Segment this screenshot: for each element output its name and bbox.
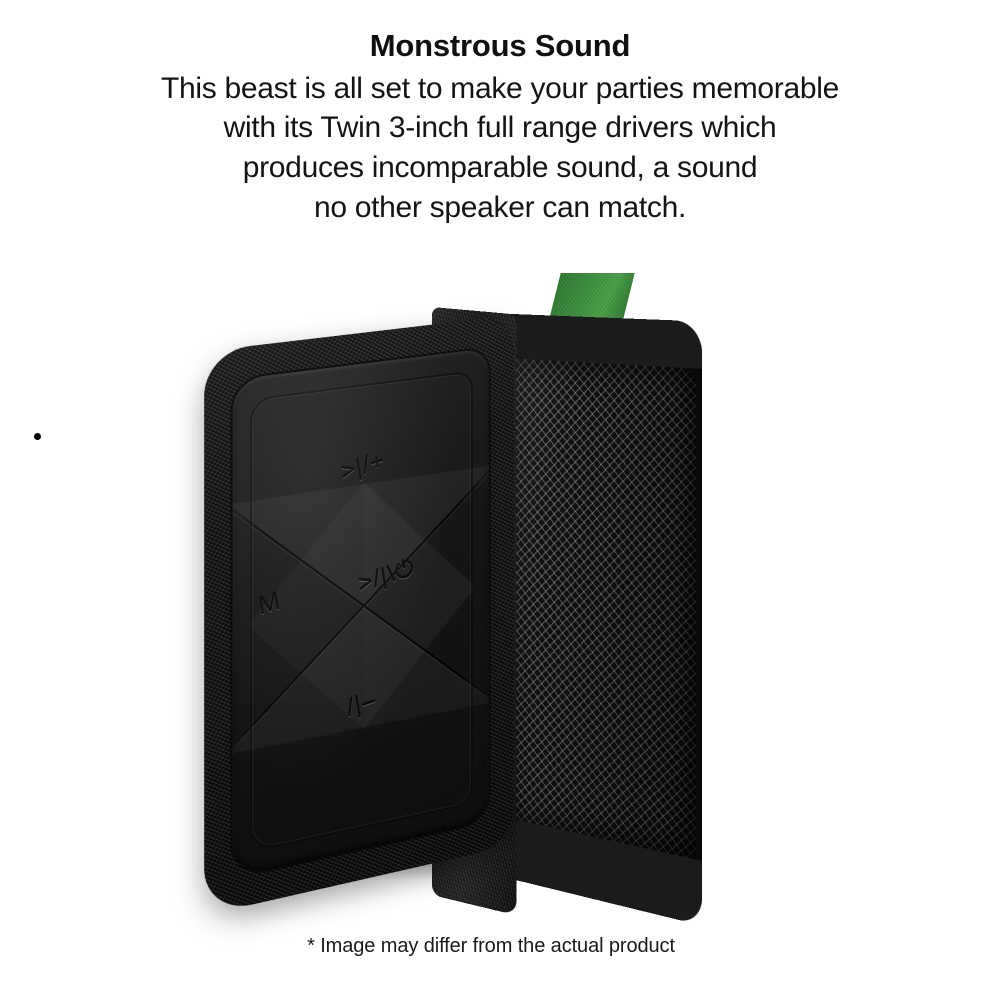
mode-button[interactable] xyxy=(248,482,364,752)
disclaimer-text: * Image may differ from the actual produ… xyxy=(0,935,1000,958)
microphone-pinhole-icon xyxy=(34,433,41,440)
description-line-4: no other speaker can match. xyxy=(0,188,1000,228)
previous-track-volume-down-icon: /|– xyxy=(345,687,377,720)
description-line-2: with its Twin 3-inch full range drivers … xyxy=(0,108,1000,148)
speaker-mesh xyxy=(496,358,695,860)
previous-track-volume-down-button[interactable] xyxy=(233,584,489,755)
key-divider-stroke xyxy=(233,473,488,746)
description-line-3: produces incomparable sound, a sound xyxy=(0,148,1000,188)
description-text: This beast is all set to make your parti… xyxy=(0,69,1000,229)
mode-icon: M xyxy=(257,589,283,620)
description-line-1: This beast is all set to make your parti… xyxy=(0,69,1000,109)
bluetooth-speaker: >|/+ >/|\⏻ /|– M xyxy=(0,255,1000,905)
play-pause-power-button[interactable] xyxy=(364,466,475,730)
play-pause-power-icon: >/|\⏻ xyxy=(357,555,417,596)
key-cluster-outline xyxy=(250,370,473,852)
speaker-grille-face xyxy=(487,313,702,926)
marketing-copy: Monstrous Sound This beast is all set to… xyxy=(0,28,1000,228)
key-divider-stroke xyxy=(233,511,488,697)
product-marketing-image: Monstrous Sound This beast is all set to… xyxy=(0,0,1000,1000)
x-button-cluster: >|/+ >/|\⏻ /|– M xyxy=(233,348,489,877)
product-image: >|/+ >/|\⏻ /|– M xyxy=(0,255,1000,905)
speaker-control-face: >|/+ >/|\⏻ /|– M xyxy=(204,315,514,915)
next-track-volume-up-button[interactable] xyxy=(233,465,489,629)
page-title: Monstrous Sound xyxy=(0,28,1000,65)
control-pad: >|/+ >/|\⏻ /|– M xyxy=(233,348,489,877)
next-track-volume-up-icon: >|/+ xyxy=(339,448,387,484)
